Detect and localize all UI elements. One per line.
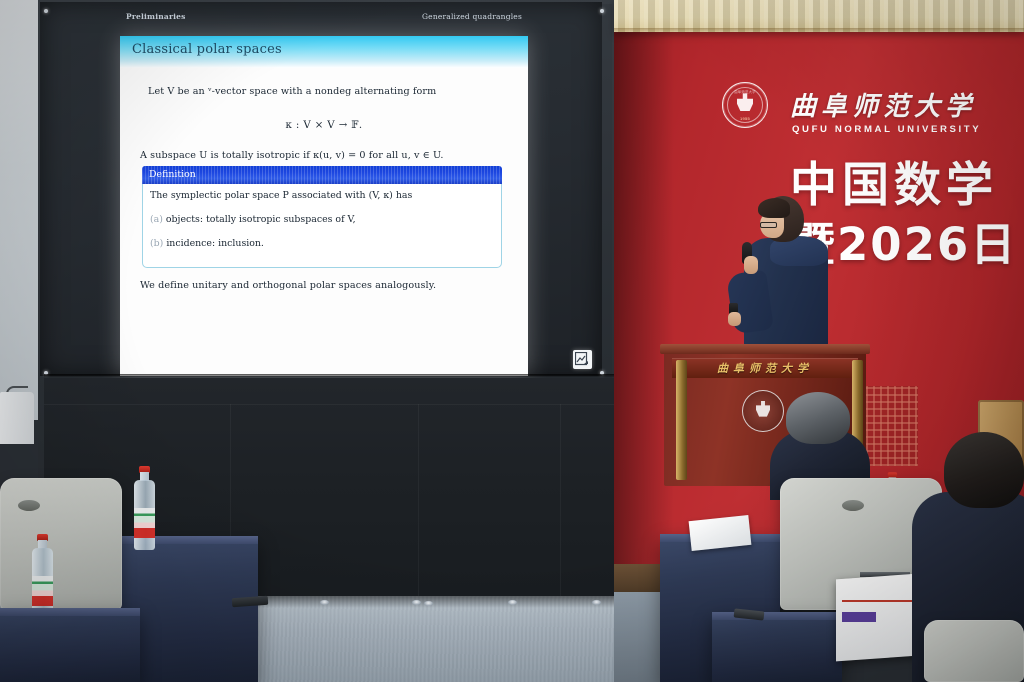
chair-right-front	[924, 620, 1024, 682]
definition-item-a: (a) objects: totally isotropic subspaces…	[150, 214, 356, 225]
speaker-glasses	[760, 222, 777, 228]
bottle-label-stripe	[134, 516, 155, 528]
floor-light	[424, 601, 433, 606]
papers-on-table	[689, 515, 752, 551]
table-right-front	[712, 612, 842, 682]
lecture-photo-scene: Preliminaries Generalized quadrangles Cl…	[0, 0, 1024, 682]
seal-year: 1955	[723, 116, 767, 121]
chair-logo	[18, 500, 40, 511]
floor-light	[412, 600, 421, 605]
floor-equipment	[0, 392, 34, 444]
slide-equation: κ : V × V → 𝔽.	[120, 120, 528, 131]
banner-headline-line-1: 中国数学	[790, 162, 998, 209]
screen-corner-marker-tr	[600, 9, 604, 13]
slide-title: Classical polar spaces	[132, 42, 282, 57]
slide-page: Classical polar spaces Let V be an ᵛ-vec…	[120, 36, 528, 376]
image-placeholder-icon[interactable]	[573, 350, 592, 369]
slide-text-line-1: Let V be an ᵛ-vector space with a nondeg…	[148, 86, 436, 97]
floor-light	[508, 600, 517, 605]
definition-item-b-text: incidence: inclusion.	[166, 238, 264, 249]
speaker-hand-upper	[744, 256, 758, 274]
slide-header-left: Preliminaries	[126, 12, 186, 21]
slide-closing-line: We define unitary and orthogonal polar s…	[140, 280, 436, 291]
university-name-english: QUFU NORMAL UNIVERSITY	[792, 124, 981, 135]
floor-light	[320, 600, 329, 605]
attendee-head-2	[944, 432, 1024, 508]
table-front-left	[0, 608, 140, 682]
table-front-left-top	[0, 608, 140, 616]
curtain-valance-hem	[614, 28, 1024, 33]
decorative-lattice	[866, 386, 918, 466]
definition-item-a-text: objects: totally isotropic subspaces of …	[166, 214, 356, 225]
definition-item-b-marker: (b)	[150, 238, 163, 249]
panel-seam	[560, 404, 561, 600]
panel-seam	[44, 404, 614, 405]
university-name-chinese: 曲阜师范大学	[790, 86, 976, 123]
definition-item-a-marker: (a)	[150, 214, 163, 225]
seal-arc-top-text: 曲阜师范大学	[723, 89, 767, 94]
slide-header-right: Generalized quadrangles	[422, 12, 522, 21]
chair-foreground-left	[0, 478, 122, 610]
university-seal-logo: 曲阜师范大学 1955	[722, 82, 768, 128]
water-bottle	[132, 466, 156, 550]
speaker-hand-lower	[728, 312, 741, 326]
table-right-front-top	[712, 612, 842, 620]
podium-pillar-left	[676, 360, 687, 480]
slide-body: Let V be an ᵛ-vector space with a nondeg…	[120, 68, 528, 376]
bottle-label-stripe	[32, 584, 53, 596]
water-bottle	[30, 534, 54, 618]
podium-seal-emblem	[742, 390, 784, 432]
definition-item-b: (b) incidence: inclusion.	[150, 238, 264, 249]
backdrop-shading	[614, 0, 674, 600]
panel-seam	[418, 404, 419, 600]
floor-light	[592, 600, 601, 605]
definition-intro: The symplectic polar space P associated …	[150, 190, 412, 201]
podium-seal-glyph	[756, 401, 770, 417]
attendee-head-1	[786, 392, 850, 444]
slide-running-header: Preliminaries Generalized quadrangles	[40, 2, 602, 36]
podium-top-rail	[660, 344, 870, 354]
speaker-hair	[758, 198, 790, 218]
definition-block-header	[142, 166, 502, 184]
projection-screen: Preliminaries Generalized quadrangles Cl…	[40, 2, 602, 376]
slide-text-line-2: A subspace U is totally isotropic if κ(u…	[140, 150, 443, 161]
podium-name-text: 曲阜师范大学	[690, 360, 840, 376]
chair-logo	[842, 500, 864, 511]
screen-corner-marker-tl	[44, 9, 48, 13]
laptop-screen-tab	[842, 612, 876, 622]
definition-block-label: Definition	[149, 169, 196, 180]
